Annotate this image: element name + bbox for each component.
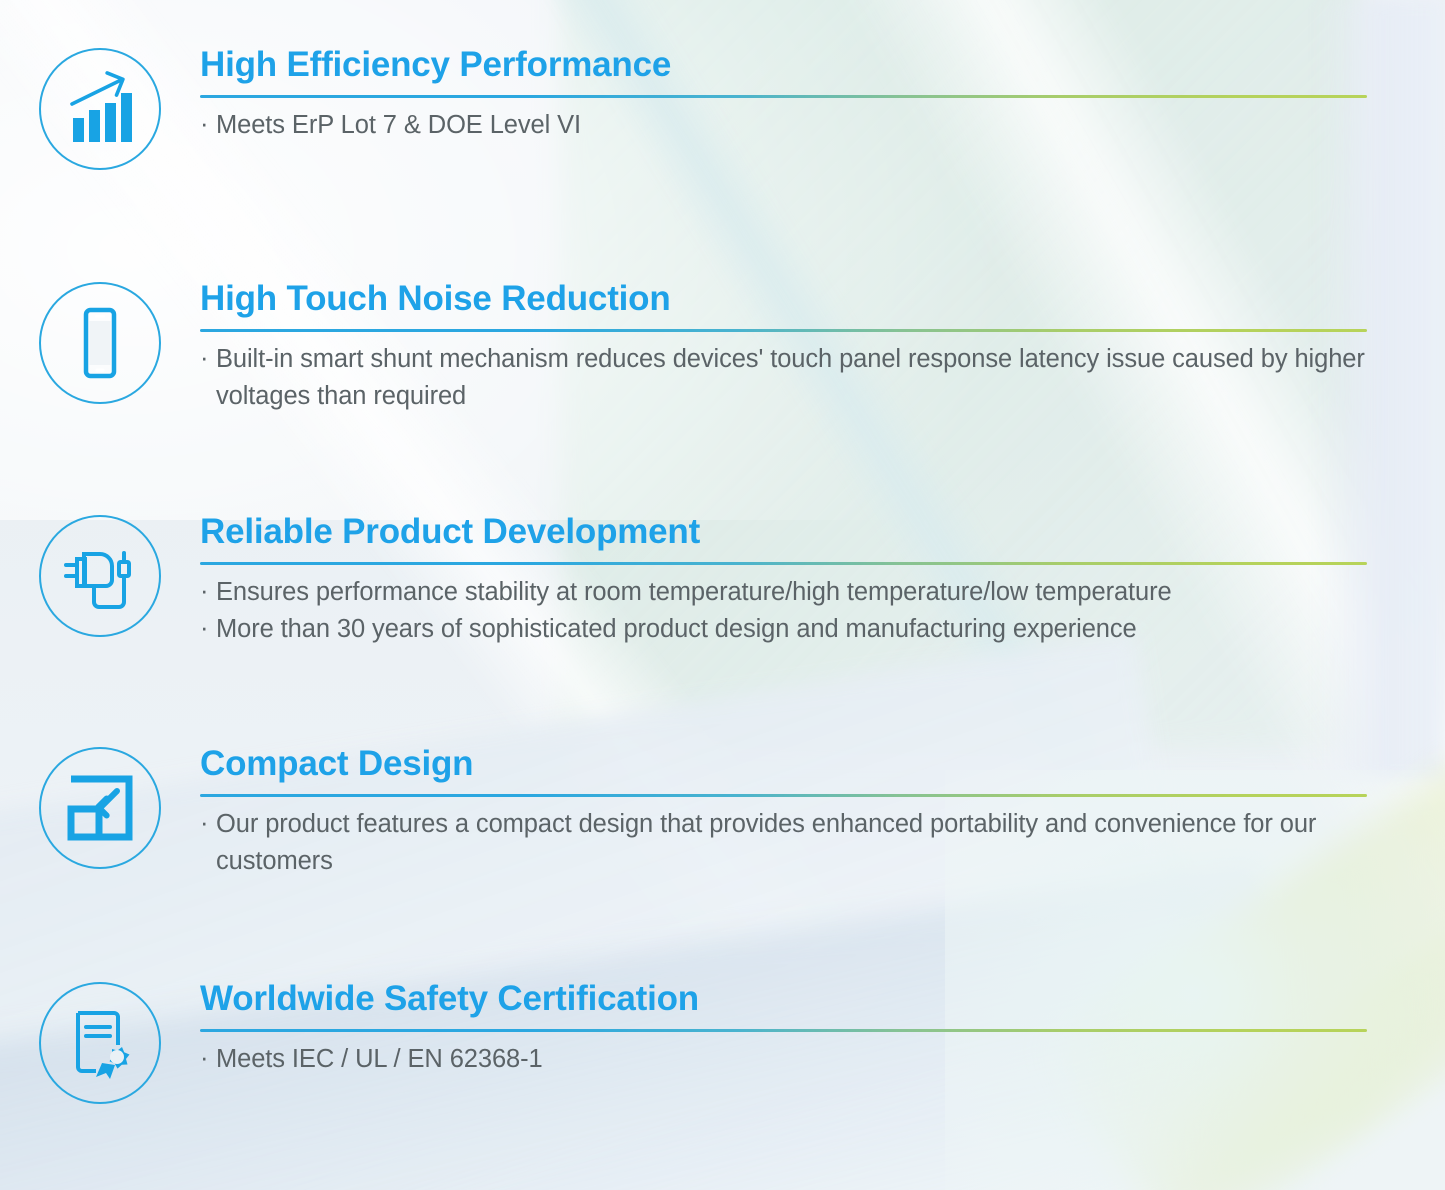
feature-divider	[200, 329, 1367, 332]
feature-bullet: More than 30 years of sophisticated prod…	[200, 611, 1367, 648]
feature-icon-wrapper	[0, 280, 200, 404]
feature-item-high-touch-noise-reduction: High Touch Noise Reduction Built-in smar…	[0, 280, 1445, 414]
feature-title: High Efficiency Performance	[200, 46, 1367, 84]
feature-highlights-page: High Efficiency Performance Meets ErP Lo…	[0, 0, 1445, 1190]
feature-bullet-list: Ensures performance stability at room te…	[200, 574, 1367, 647]
feature-icon-wrapper	[0, 513, 200, 637]
feature-bullet: Meets ErP Lot 7 & DOE Level VI	[200, 107, 1367, 144]
feature-text-block: High Touch Noise Reduction Built-in smar…	[200, 280, 1445, 414]
feature-item-high-efficiency-performance: High Efficiency Performance Meets ErP Lo…	[0, 46, 1445, 170]
feature-text-block: Reliable Product Development Ensures per…	[200, 513, 1445, 647]
feature-divider	[200, 95, 1367, 98]
feature-text-block: Compact Design Our product features a co…	[200, 745, 1445, 879]
feature-bullet-list: Meets ErP Lot 7 & DOE Level VI	[200, 107, 1367, 144]
icon-circle-frame	[39, 282, 161, 404]
feature-item-worldwide-safety-certification: Worldwide Safety Certification Meets IEC…	[0, 980, 1445, 1104]
feature-bullet: Built-in smart shunt mechanism reduces d…	[200, 341, 1367, 414]
power-adapter-icon	[60, 536, 140, 616]
feature-title: Reliable Product Development	[200, 513, 1367, 551]
smartphone-icon	[61, 304, 139, 382]
feature-icon-wrapper	[0, 46, 200, 170]
features-list: High Efficiency Performance Meets ErP Lo…	[0, 0, 1445, 1190]
compact-resize-icon	[63, 771, 137, 845]
feature-icon-wrapper	[0, 745, 200, 869]
feature-title: Compact Design	[200, 745, 1367, 783]
feature-divider	[200, 794, 1367, 797]
feature-bullet: Meets IEC / UL / EN 62368-1	[200, 1041, 1367, 1078]
feature-text-block: Worldwide Safety Certification Meets IEC…	[200, 980, 1445, 1078]
feature-bullet: Our product features a compact design th…	[200, 806, 1367, 879]
icon-circle-frame	[39, 747, 161, 869]
feature-icon-wrapper	[0, 980, 200, 1104]
feature-bullet: Ensures performance stability at room te…	[200, 574, 1367, 611]
feature-title: High Touch Noise Reduction	[200, 280, 1367, 318]
icon-circle-frame	[39, 48, 161, 170]
feature-title: Worldwide Safety Certification	[200, 980, 1367, 1018]
feature-divider	[200, 1029, 1367, 1032]
feature-item-reliable-product-development: Reliable Product Development Ensures per…	[0, 513, 1445, 647]
icon-circle-frame	[39, 982, 161, 1104]
feature-bullet-list: Meets IEC / UL / EN 62368-1	[200, 1041, 1367, 1078]
feature-item-compact-design: Compact Design Our product features a co…	[0, 745, 1445, 879]
feature-divider	[200, 562, 1367, 565]
certificate-seal-icon	[62, 1005, 138, 1081]
feature-bullet-list: Our product features a compact design th…	[200, 806, 1367, 879]
bar-chart-growth-icon	[61, 70, 139, 148]
feature-text-block: High Efficiency Performance Meets ErP Lo…	[200, 46, 1445, 144]
icon-circle-frame	[39, 515, 161, 637]
feature-bullet-list: Built-in smart shunt mechanism reduces d…	[200, 341, 1367, 414]
